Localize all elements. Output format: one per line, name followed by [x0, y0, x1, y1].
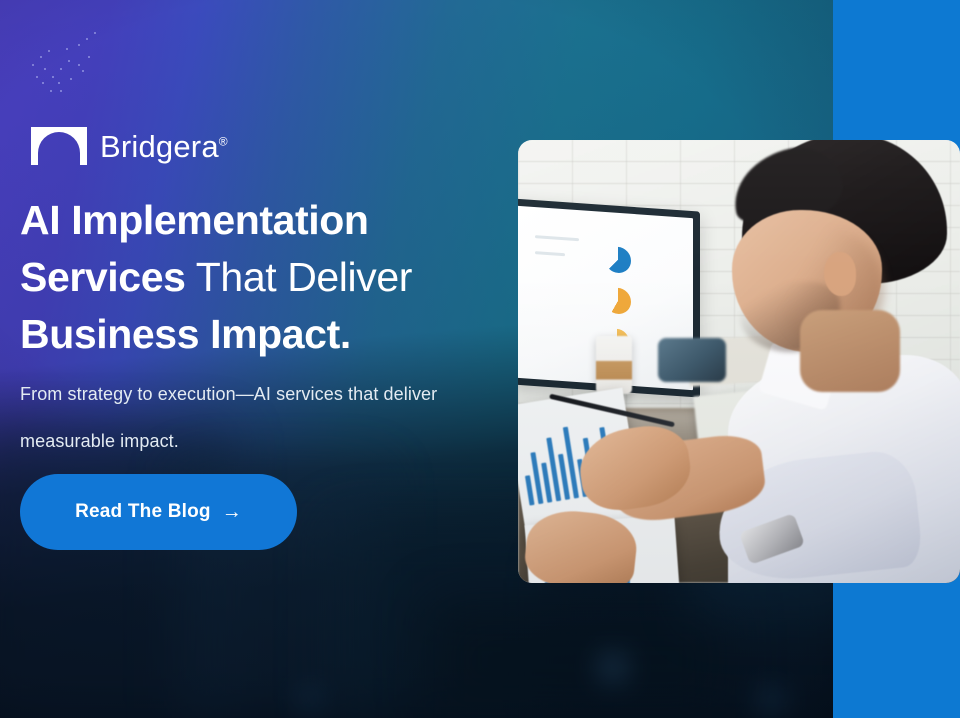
headline-line-2-strong: Services	[20, 254, 186, 300]
screen-text-line	[535, 251, 565, 256]
screen-text-line	[535, 235, 579, 241]
bridge-arch-icon	[31, 127, 87, 165]
registered-trademark-symbol: ®	[219, 134, 228, 148]
coffee-cup	[596, 336, 632, 394]
brand-name: Bridgera®	[100, 131, 228, 162]
hero-banner: Bridgera® AI Implementation Services Tha…	[0, 0, 960, 718]
headline-line-2-rest: That Deliver	[186, 254, 412, 300]
neck	[800, 310, 900, 392]
hero-photo	[518, 140, 960, 583]
donut-chart-icon	[605, 246, 631, 274]
headline-line-1: AI Implementation	[20, 197, 369, 243]
chart-bar	[525, 475, 535, 505]
brand-name-text: Bridgera	[100, 129, 219, 164]
photo-scene	[518, 140, 960, 583]
hero-subtitle: From strategy to execution—AI services t…	[20, 371, 490, 465]
headline-line-3: Business Impact.	[20, 311, 351, 357]
brand-logo[interactable]: Bridgera®	[31, 127, 228, 165]
donut-chart-icon	[605, 287, 631, 315]
page-title: AI Implementation Services That Deliver …	[20, 192, 500, 363]
person-head	[714, 140, 960, 382]
cta-label: Read The Blog	[75, 501, 211, 523]
arrow-right-icon: →	[222, 502, 242, 522]
read-the-blog-button[interactable]: Read The Blog →	[20, 474, 297, 550]
ear	[824, 252, 856, 296]
